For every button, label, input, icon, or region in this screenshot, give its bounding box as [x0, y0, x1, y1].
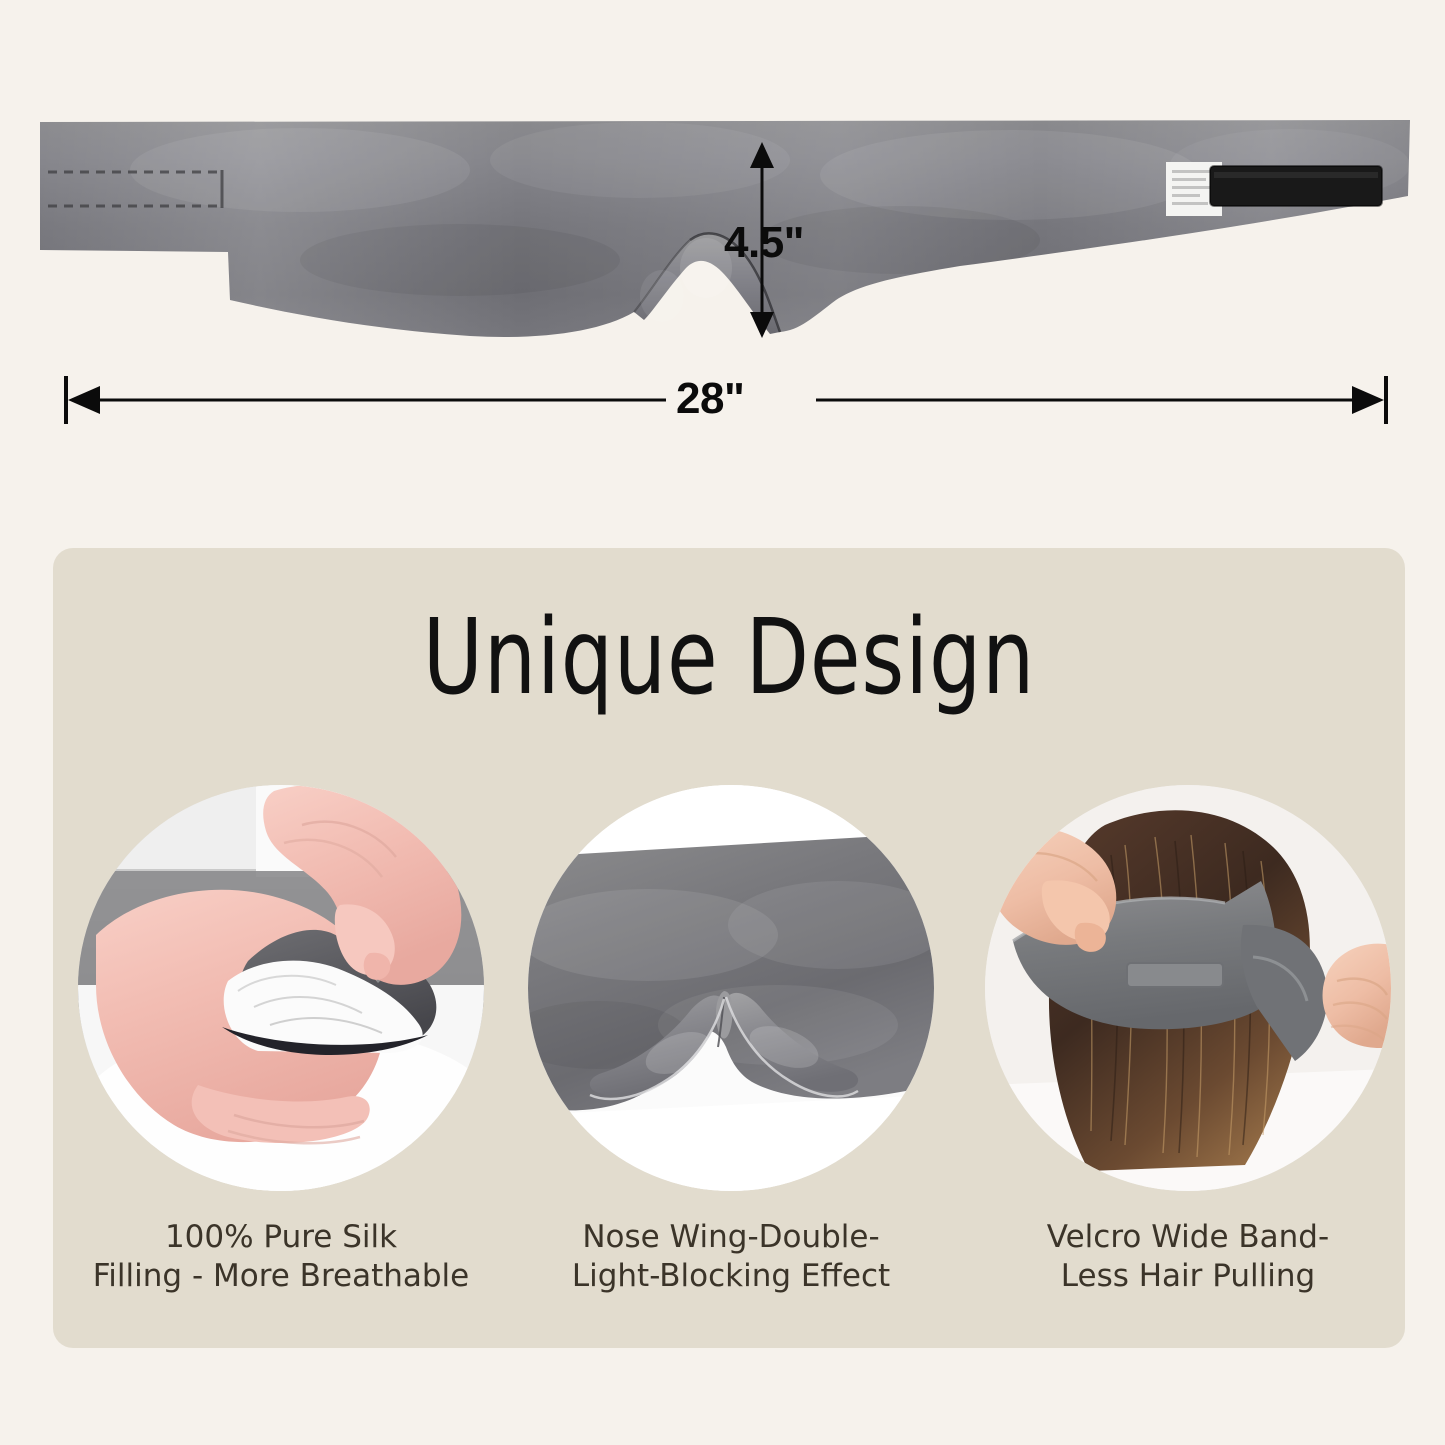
height-dimension-label: 4.5" [724, 218, 804, 268]
nose-wing-illustration [528, 785, 934, 1191]
feature-caption: Velcro Wide Band- Less Hair Pulling [985, 1218, 1391, 1297]
caption-line: Light-Blocking Effect [528, 1257, 934, 1296]
feature-caption: 100% Pure Silk Filling - More Breathable [78, 1218, 484, 1297]
caption-line: Less Hair Pulling [985, 1257, 1391, 1296]
nose-wing-closeup-photo [528, 785, 934, 1191]
silk-filling-illustration [78, 785, 484, 1191]
hands-holding-silk-filling-photo [78, 785, 484, 1191]
woman-wearing-mask-photo [985, 785, 1391, 1191]
panel-title: Unique Design [134, 596, 1324, 718]
product-infographic: 4.5" 28" Unique Design [0, 0, 1445, 1445]
caption-line: Nose Wing-Double- [528, 1218, 934, 1257]
feature-nose-wing: Nose Wing-Double- Light-Blocking Effect [528, 785, 934, 1297]
caption-line: Velcro Wide Band- [985, 1218, 1391, 1257]
unique-design-panel: Unique Design [53, 548, 1405, 1348]
velcro-strap [1210, 166, 1382, 206]
feature-silk-filling: 100% Pure Silk Filling - More Breathable [78, 785, 484, 1297]
sleep-mask-illustration [0, 0, 1445, 420]
feature-velcro-band: Velcro Wide Band- Less Hair Pulling [985, 785, 1391, 1297]
hero-product-section: 4.5" 28" [0, 0, 1445, 545]
caption-line: Filling - More Breathable [78, 1257, 484, 1296]
caption-line: 100% Pure Silk [78, 1218, 484, 1257]
velcro-band-illustration [985, 785, 1391, 1191]
feature-caption: Nose Wing-Double- Light-Blocking Effect [528, 1218, 934, 1297]
width-dimension-label: 28" [676, 374, 744, 424]
